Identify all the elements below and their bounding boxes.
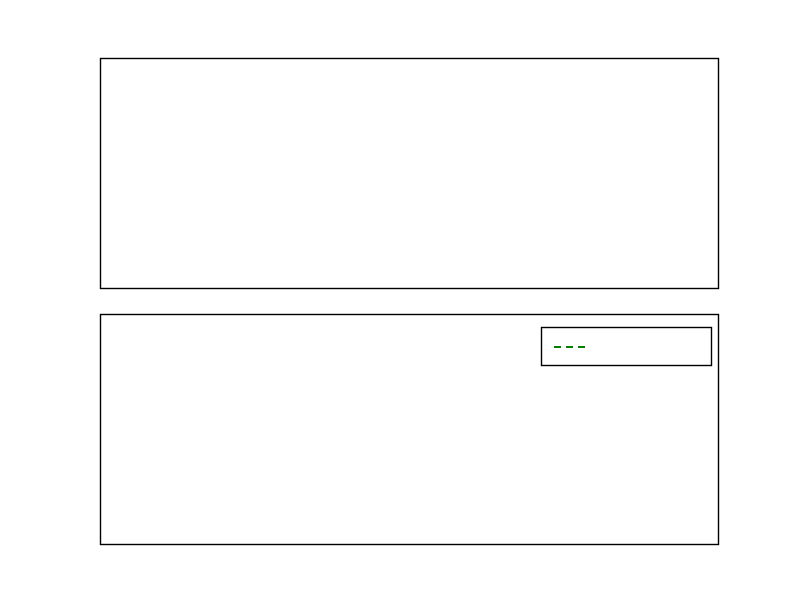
legend[interactable]	[542, 328, 712, 366]
matplotlib-figure	[0, 0, 800, 600]
figure-background	[0, 0, 800, 600]
